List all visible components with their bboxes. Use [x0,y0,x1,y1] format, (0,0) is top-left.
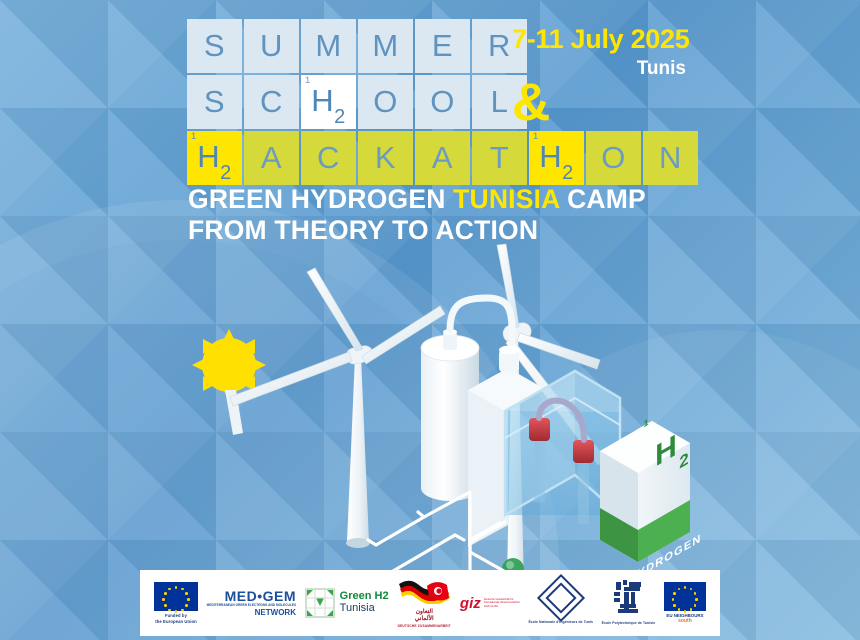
tile-letter: O [601,140,626,176]
arabic-line-2: الألماني [397,616,451,623]
green-h2-subtitle: Tunisia [340,603,389,615]
letter-tile-h2: 1 H2 [301,75,356,129]
letter-tile: A [244,131,299,185]
ampersand: & [512,76,550,129]
tile-letter: E [432,28,453,64]
ept-mark-icon [610,580,646,614]
tile-letter: H2 [539,139,574,178]
tile-letter: N [659,140,682,176]
tile-letter: K [375,140,396,176]
medgem-title: MED•GEM [207,589,296,603]
letter-tile: T [472,131,527,185]
tile-letter: O [430,84,455,120]
sponsor-logo-bar: Funded by the European Union MED•GEM MED… [140,570,720,636]
letter-tile: E [415,19,470,73]
isometric-illustration: H 2 1 HYDROGEN [0,240,860,570]
giz-title: giz [460,596,481,611]
tile-letter: T [490,140,509,176]
tile-letter: R [488,28,511,64]
tile-letter: U [260,28,283,64]
letter-tile: N [643,131,698,185]
tagline-part-1: GREEN HYDROGEN [188,184,453,214]
sun-icon [192,329,266,435]
tile-letter: M [315,28,341,64]
letter-tile: S [187,75,242,129]
logo-eu-funded: Funded by the European Union [154,582,198,624]
german-cooperation-caption: DEUTSCHE ZUSAMMENARBEIT [397,624,451,628]
tile-letter: S [204,84,225,120]
medgem-network: NETWORK [207,609,296,617]
event-date-block: 7-11 July 2025 Tunis [512,26,692,80]
tile-letter: M [372,28,398,64]
letter-tile: O [415,75,470,129]
logo-caption-line-2: the European Union [154,619,198,624]
page-title: GREEN HYDROGEN TUNISIA CAMP FROM THEORY … [188,184,646,247]
green-word: Green [340,590,372,602]
tagline-part-2: CAMP [560,184,646,214]
letter-tile-h2: 1 H2 [187,131,242,185]
arabic-line-1: التعاون [397,609,451,616]
logo-enit: École Nationale d'Ingénieurs de Tunis [528,581,593,624]
atomic-number: 1 [191,132,197,141]
tile-letter: H2 [197,139,232,178]
letter-tile: K [358,131,413,185]
eu-neighbours-flag-icon [664,582,706,611]
electrolyzer [468,346,620,548]
tagline-highlight: TUNISIA [453,184,559,214]
letter-tile: M [301,19,356,73]
ept-caption: École Polytechnique de Tunisie [602,621,656,625]
logo-caption: Funded by the European Union [154,613,198,624]
green-h2-mark-icon [305,588,335,618]
logo-eu-neighbours: EU NEIGHBOURS south [664,582,706,624]
logo-medgem: MED•GEM MEDITERRANEAN GREEN ELECTRONS AN… [207,589,296,617]
german-cooperation-arabic: التعاون الألماني [397,609,451,623]
tile-letter: S [204,28,225,64]
h2-word: H2 [375,590,389,602]
word-row-school: S C 1 H2 O O L [187,75,700,129]
letter-tile: U [244,19,299,73]
eu-flag-icon [154,582,198,611]
german-tunisian-flag-icon [397,578,451,604]
letter-tile: C [301,131,356,185]
logo-ept: École Polytechnique de Tunisie [602,580,656,625]
giz-subtitle: Deutsche Gesellschaft für Internationale… [484,598,520,608]
atomic-number: 1 [305,76,311,85]
letter-tile: O [358,75,413,129]
tile-letter: C [260,84,283,120]
tagline-line-1: GREEN HYDROGEN TUNISIA CAMP [188,184,646,215]
word-row-hackathon: 1 H2 A C K A T 1 H2 O N [187,131,700,185]
tile-letter: A [261,140,282,176]
letter-tile: M [358,19,413,73]
atomic-number: 1 [533,132,539,141]
turbine-blades [230,268,445,406]
letter-tile-h2: 1 H2 [529,131,584,185]
letter-tile: C [244,75,299,129]
logo-german-cooperation: التعاون الألماني DEUTSCHE ZUSAMMENARBEIT [397,578,451,628]
pipe [450,298,487,330]
letter-tile: O [586,131,641,185]
tile-letter: O [373,84,398,120]
tile-letter: C [317,140,340,176]
eu-neighbours-region: south [664,618,706,624]
tile-letter: H2 [311,83,346,122]
tile-letter: A [432,140,453,176]
wind-turbine [230,268,445,548]
letter-tile: S [187,19,242,73]
logo-green-h2-tunisia: Green H2 Tunisia [305,588,389,618]
illustration-svg: H 2 1 HYDROGEN [0,240,860,570]
event-dates: 7-11 July 2025 [512,26,692,53]
letter-tile: A [415,131,470,185]
poster-canvas: S U M M E R S C 1 H2 O O L 1 H2 A C K [0,0,860,640]
enit-mark-icon [537,574,585,622]
logo-giz: giz Deutsche Gesellschaft für Internatio… [460,596,520,611]
gas-bubbles [500,558,560,570]
tile-letter: L [491,84,509,120]
